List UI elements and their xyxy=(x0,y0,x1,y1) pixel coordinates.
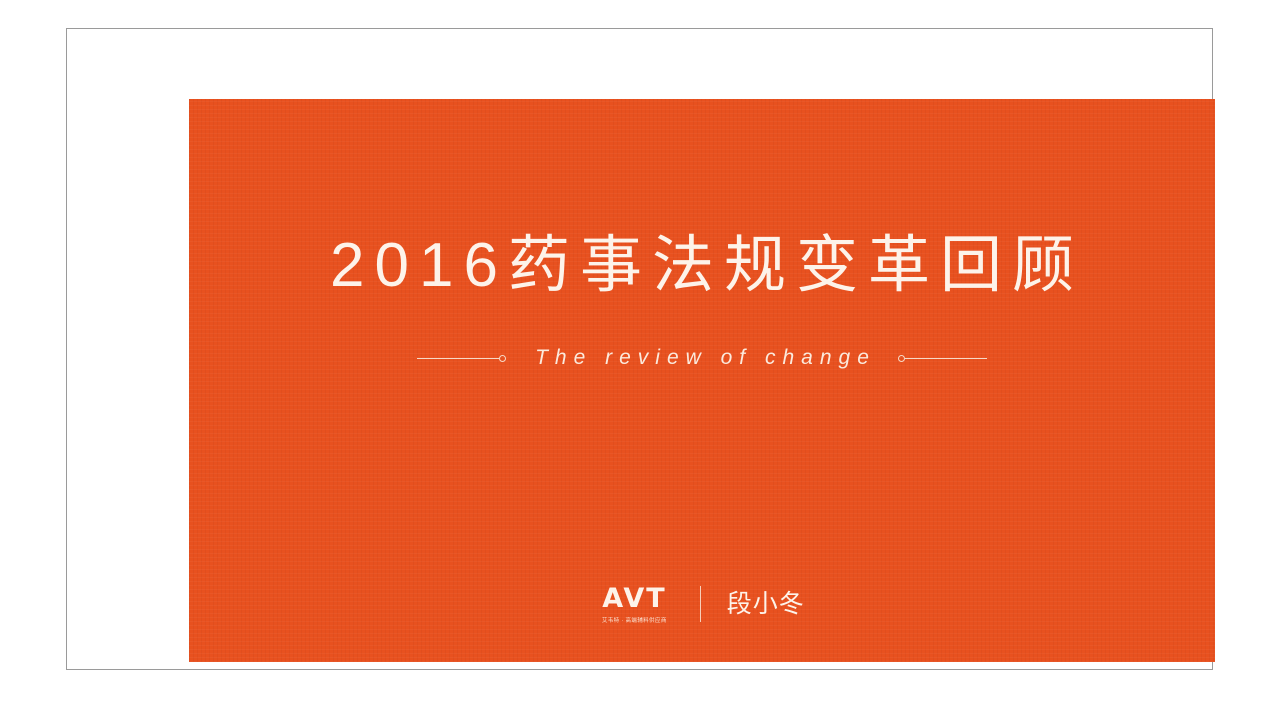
footer-divider xyxy=(700,586,701,622)
decorative-rule-left xyxy=(417,358,499,359)
slide-frame-border: 2016药事法规变革回顾 The review of change AVT 艾韦… xyxy=(66,28,1213,670)
slide-canvas: 2016药事法规变革回顾 The review of change AVT 艾韦… xyxy=(0,0,1280,720)
page-title: 2016药事法规变革回顾 xyxy=(189,235,1215,297)
brand-lockup: AVT 艾韦特 · 高端辅料供应商 xyxy=(599,585,670,624)
brand-tagline: 艾韦特 · 高端辅料供应商 xyxy=(602,618,667,624)
decorative-rule-right xyxy=(905,358,987,359)
presenter-name: 段小冬 xyxy=(727,592,805,617)
panel-texture-overlay xyxy=(189,99,1215,662)
avt-logo: AVT xyxy=(602,585,666,612)
title-slide-panel: 2016药事法规变革回顾 The review of change AVT 艾韦… xyxy=(189,99,1215,662)
subtitle-decorated-row: The review of change xyxy=(189,344,1215,372)
decorative-ring-left-icon xyxy=(499,355,506,362)
decorative-ring-right-icon xyxy=(898,355,905,362)
slide-footer: AVT 艾韦特 · 高端辅料供应商 段小冬 xyxy=(189,581,1215,627)
page-subtitle: The review of change xyxy=(506,346,898,370)
